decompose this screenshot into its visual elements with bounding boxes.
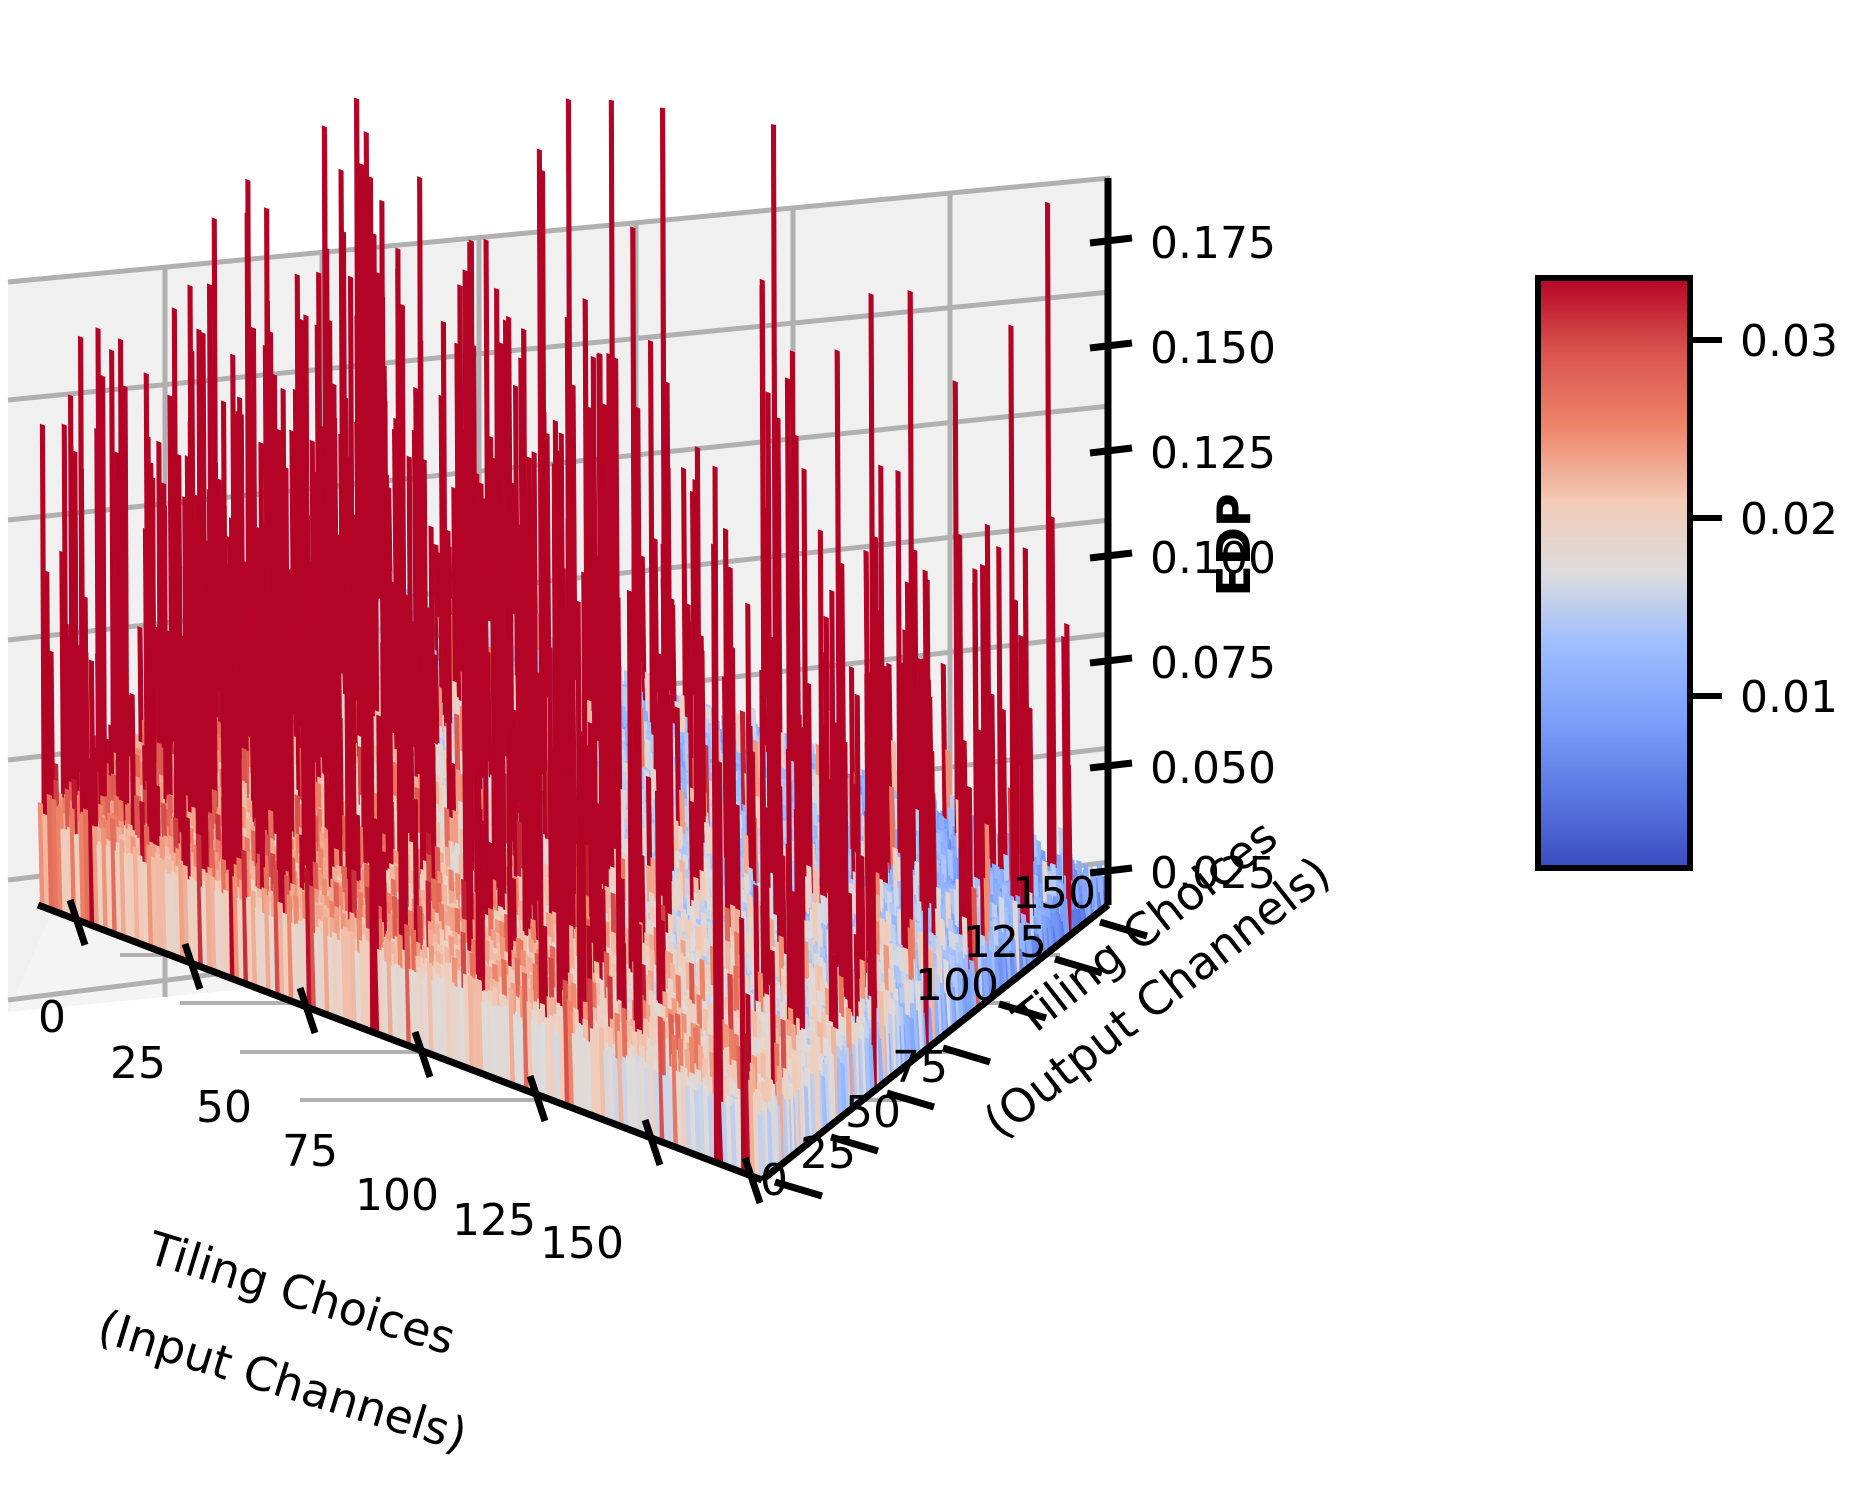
plot-canvas: 0.175 0.150 0.125 0.100 0.075 0.050 0.02… (0, 0, 1858, 1505)
figure-3d-surface-plot: 0.175 0.150 0.125 0.100 0.075 0.050 0.02… (0, 0, 1858, 1505)
